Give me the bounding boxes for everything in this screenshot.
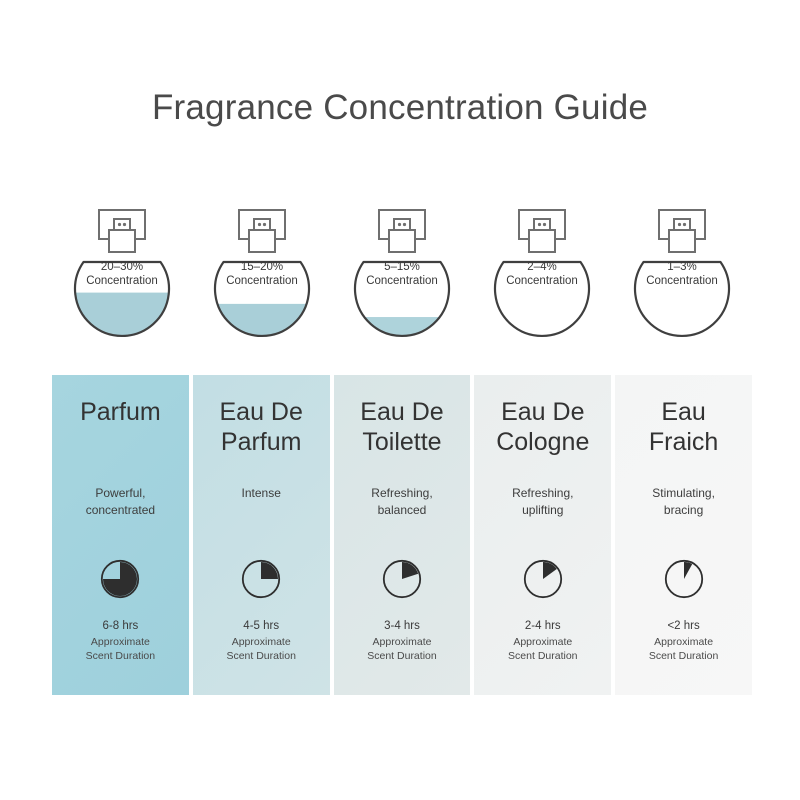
card-hours: 3-4 hrs [334,619,471,634]
card-title: EauFraich [615,397,752,461]
card-title: Eau DeParfum [193,397,330,461]
bottle-1: 20–30%Concentration [52,200,192,360]
duration-dial-wrap [474,559,611,599]
card-duration-caption-line1: Approximate [474,635,611,649]
card-duration-caption-line1: Approximate [615,635,752,649]
card-hours: 2-4 hrs [474,619,611,634]
card-row: ParfumPowerful,concentrated6-8 hrsApprox… [52,375,752,695]
card-duration-caption: ApproximateScent Duration [615,635,752,663]
card-duration-caption-line1: Approximate [52,635,189,649]
card-hours: <2 hrs [615,619,752,634]
clock-icon [664,559,704,599]
card-duration-caption-line1: Approximate [334,635,471,649]
card-title: Eau DeToilette [334,397,471,461]
card-duration-caption: ApproximateScent Duration [474,635,611,663]
bottle-icon [52,200,192,360]
fragrance-card-4[interactable]: Eau DeCologneRefreshing,uplifting2-4 hrs… [474,375,611,695]
card-duration-caption-line2: Scent Duration [193,649,330,663]
duration-dial-wrap [334,559,471,599]
card-description: Stimulating,bracing [615,485,752,521]
card-duration-caption-line2: Scent Duration [615,649,752,663]
duration-dial-wrap [615,559,752,599]
clock-icon [100,559,140,599]
card-description-line1: Powerful, [62,485,179,502]
bottle-3: 5–15%Concentration [332,200,472,360]
card-duration-caption-line2: Scent Duration [334,649,471,663]
card-duration-caption: ApproximateScent Duration [334,635,471,663]
card-description: Refreshing,uplifting [474,485,611,521]
card-title-line1: Eau De [199,397,324,427]
clock-icon [382,559,422,599]
card-description-line2: concentrated [62,502,179,519]
bottle-row: 20–30%Concentration15–20%Concentration5–… [52,200,752,360]
card-description-line2: bracing [625,502,742,519]
card-hours: 4-5 hrs [193,619,330,634]
duration-dial-wrap [52,559,189,599]
card-description: Powerful,concentrated [52,485,189,521]
card-title-line2: Toilette [340,427,465,457]
card-hours: 6-8 hrs [52,619,189,634]
bottle-icon [612,200,752,360]
card-title-line1: Eau De [480,397,605,427]
card-description-line1: Intense [203,485,320,502]
card-duration-caption: ApproximateScent Duration [52,635,189,663]
card-title-line2: Cologne [480,427,605,457]
card-title-line1: Eau De [340,397,465,427]
card-duration-caption-line2: Scent Duration [474,649,611,663]
bottle-icon [472,200,612,360]
page-title: Fragrance Concentration Guide [0,88,800,128]
card-description-line1: Stimulating, [625,485,742,502]
fragrance-card-2[interactable]: Eau DeParfumIntense4-5 hrsApproximateSce… [193,375,330,695]
card-description: Intense [193,485,330,521]
card-title-line2: Parfum [199,427,324,457]
fragrance-card-3[interactable]: Eau DeToiletteRefreshing,balanced3-4 hrs… [334,375,471,695]
bottle-icon [332,200,472,360]
card-duration-caption: ApproximateScent Duration [193,635,330,663]
clock-icon [241,559,281,599]
card-title-line1: Parfum [58,397,183,427]
bottle-5: 1–3%Concentration [612,200,752,360]
fragrance-card-5[interactable]: EauFraichStimulating,bracing<2 hrsApprox… [615,375,752,695]
card-duration-caption-line1: Approximate [193,635,330,649]
card-title: Eau DeCologne [474,397,611,461]
bottle-4: 2–4%Concentration [472,200,612,360]
card-description: Refreshing,balanced [334,485,471,521]
card-title-line1: Eau [621,397,746,427]
card-description-line2: uplifting [484,502,601,519]
fragrance-card-1[interactable]: ParfumPowerful,concentrated6-8 hrsApprox… [52,375,189,695]
card-description-line2: balanced [344,502,461,519]
bottle-icon [192,200,332,360]
card-title: Parfum [52,397,189,461]
clock-icon [523,559,563,599]
card-title-line2: Fraich [621,427,746,457]
bottle-2: 15–20%Concentration [192,200,332,360]
card-description-line1: Refreshing, [484,485,601,502]
card-description-line1: Refreshing, [344,485,461,502]
card-duration-caption-line2: Scent Duration [52,649,189,663]
duration-dial-wrap [193,559,330,599]
